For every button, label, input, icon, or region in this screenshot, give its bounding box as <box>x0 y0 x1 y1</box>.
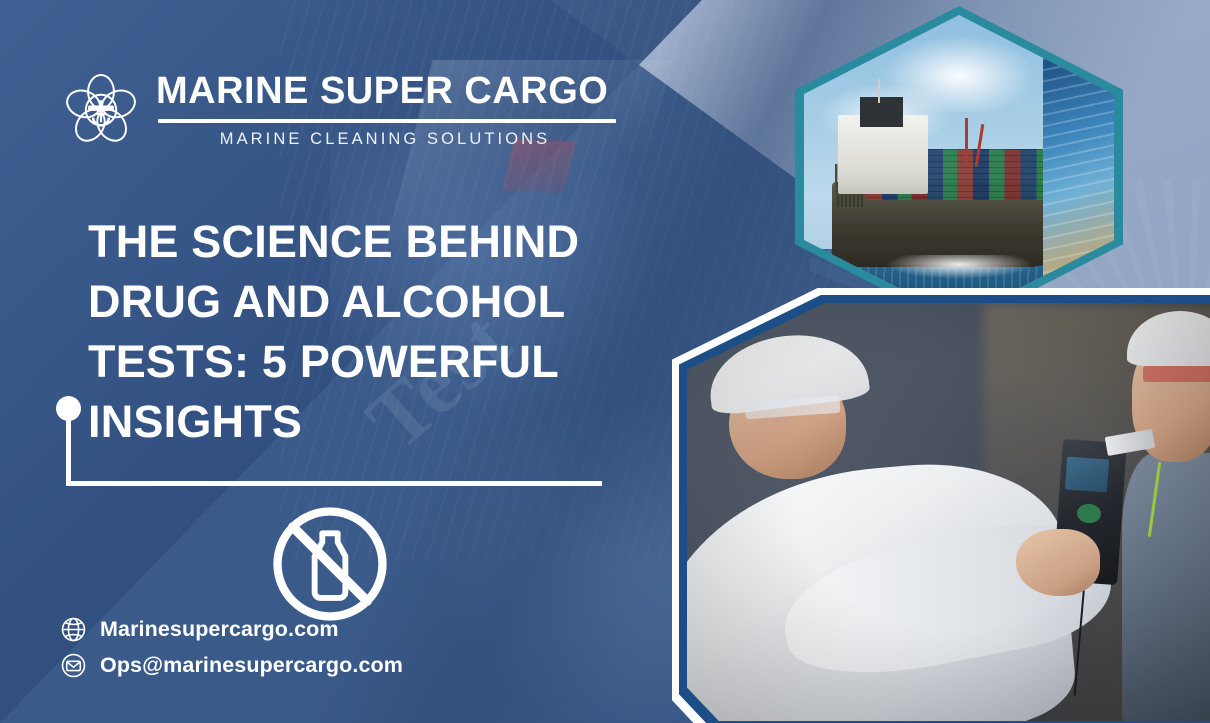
no-alcohol-icon <box>266 500 394 628</box>
globe-icon <box>60 616 87 643</box>
main-photo-shape <box>672 288 1210 723</box>
brand-name: MARINE SUPER CARGO <box>156 72 616 112</box>
ship-bridge <box>860 97 903 127</box>
left-content-column: MARINE SUPER CARGO MARINE CLEANING SOLUT… <box>0 0 660 723</box>
hexagon-ship-photo <box>795 6 1123 328</box>
ship-mast <box>878 79 880 103</box>
scene-vignette <box>687 303 1210 721</box>
main-photo-clip <box>687 303 1210 721</box>
brand-tagline: MARINE CLEANING SOLUTIONS <box>156 130 614 149</box>
contact-email[interactable]: Ops@marinesupercargo.com <box>60 652 403 679</box>
ship-crane <box>965 118 968 167</box>
contact-email-label: Ops@marinesupercargo.com <box>100 653 403 678</box>
brand-text-block: MARINE SUPER CARGO MARINE CLEANING SOLUT… <box>156 72 616 149</box>
envelope-icon <box>60 652 87 679</box>
brand-divider <box>158 119 616 123</box>
hexagon-photo-clip <box>804 15 1114 319</box>
ship-right-panel-lines <box>1043 58 1114 277</box>
contact-website-label: Marinesupercargo.com <box>100 617 339 642</box>
page-title: THE SCIENCE BEHIND DRUG AND ALCOHOL TEST… <box>88 212 618 451</box>
ship-bow-wake <box>885 255 1034 279</box>
marketing-banner: Test <box>0 0 1210 723</box>
bracket-vertical-line <box>66 412 71 486</box>
brand-logo-row: MARINE SUPER CARGO MARINE CLEANING SOLUT… <box>62 72 616 149</box>
marine-rosette-anchor-logo-icon <box>62 72 140 148</box>
bracket-horizontal-line <box>66 481 602 486</box>
contact-website[interactable]: Marinesupercargo.com <box>60 616 403 643</box>
contact-block: Marinesupercargo.com Ops@marinesupercarg… <box>60 616 403 679</box>
